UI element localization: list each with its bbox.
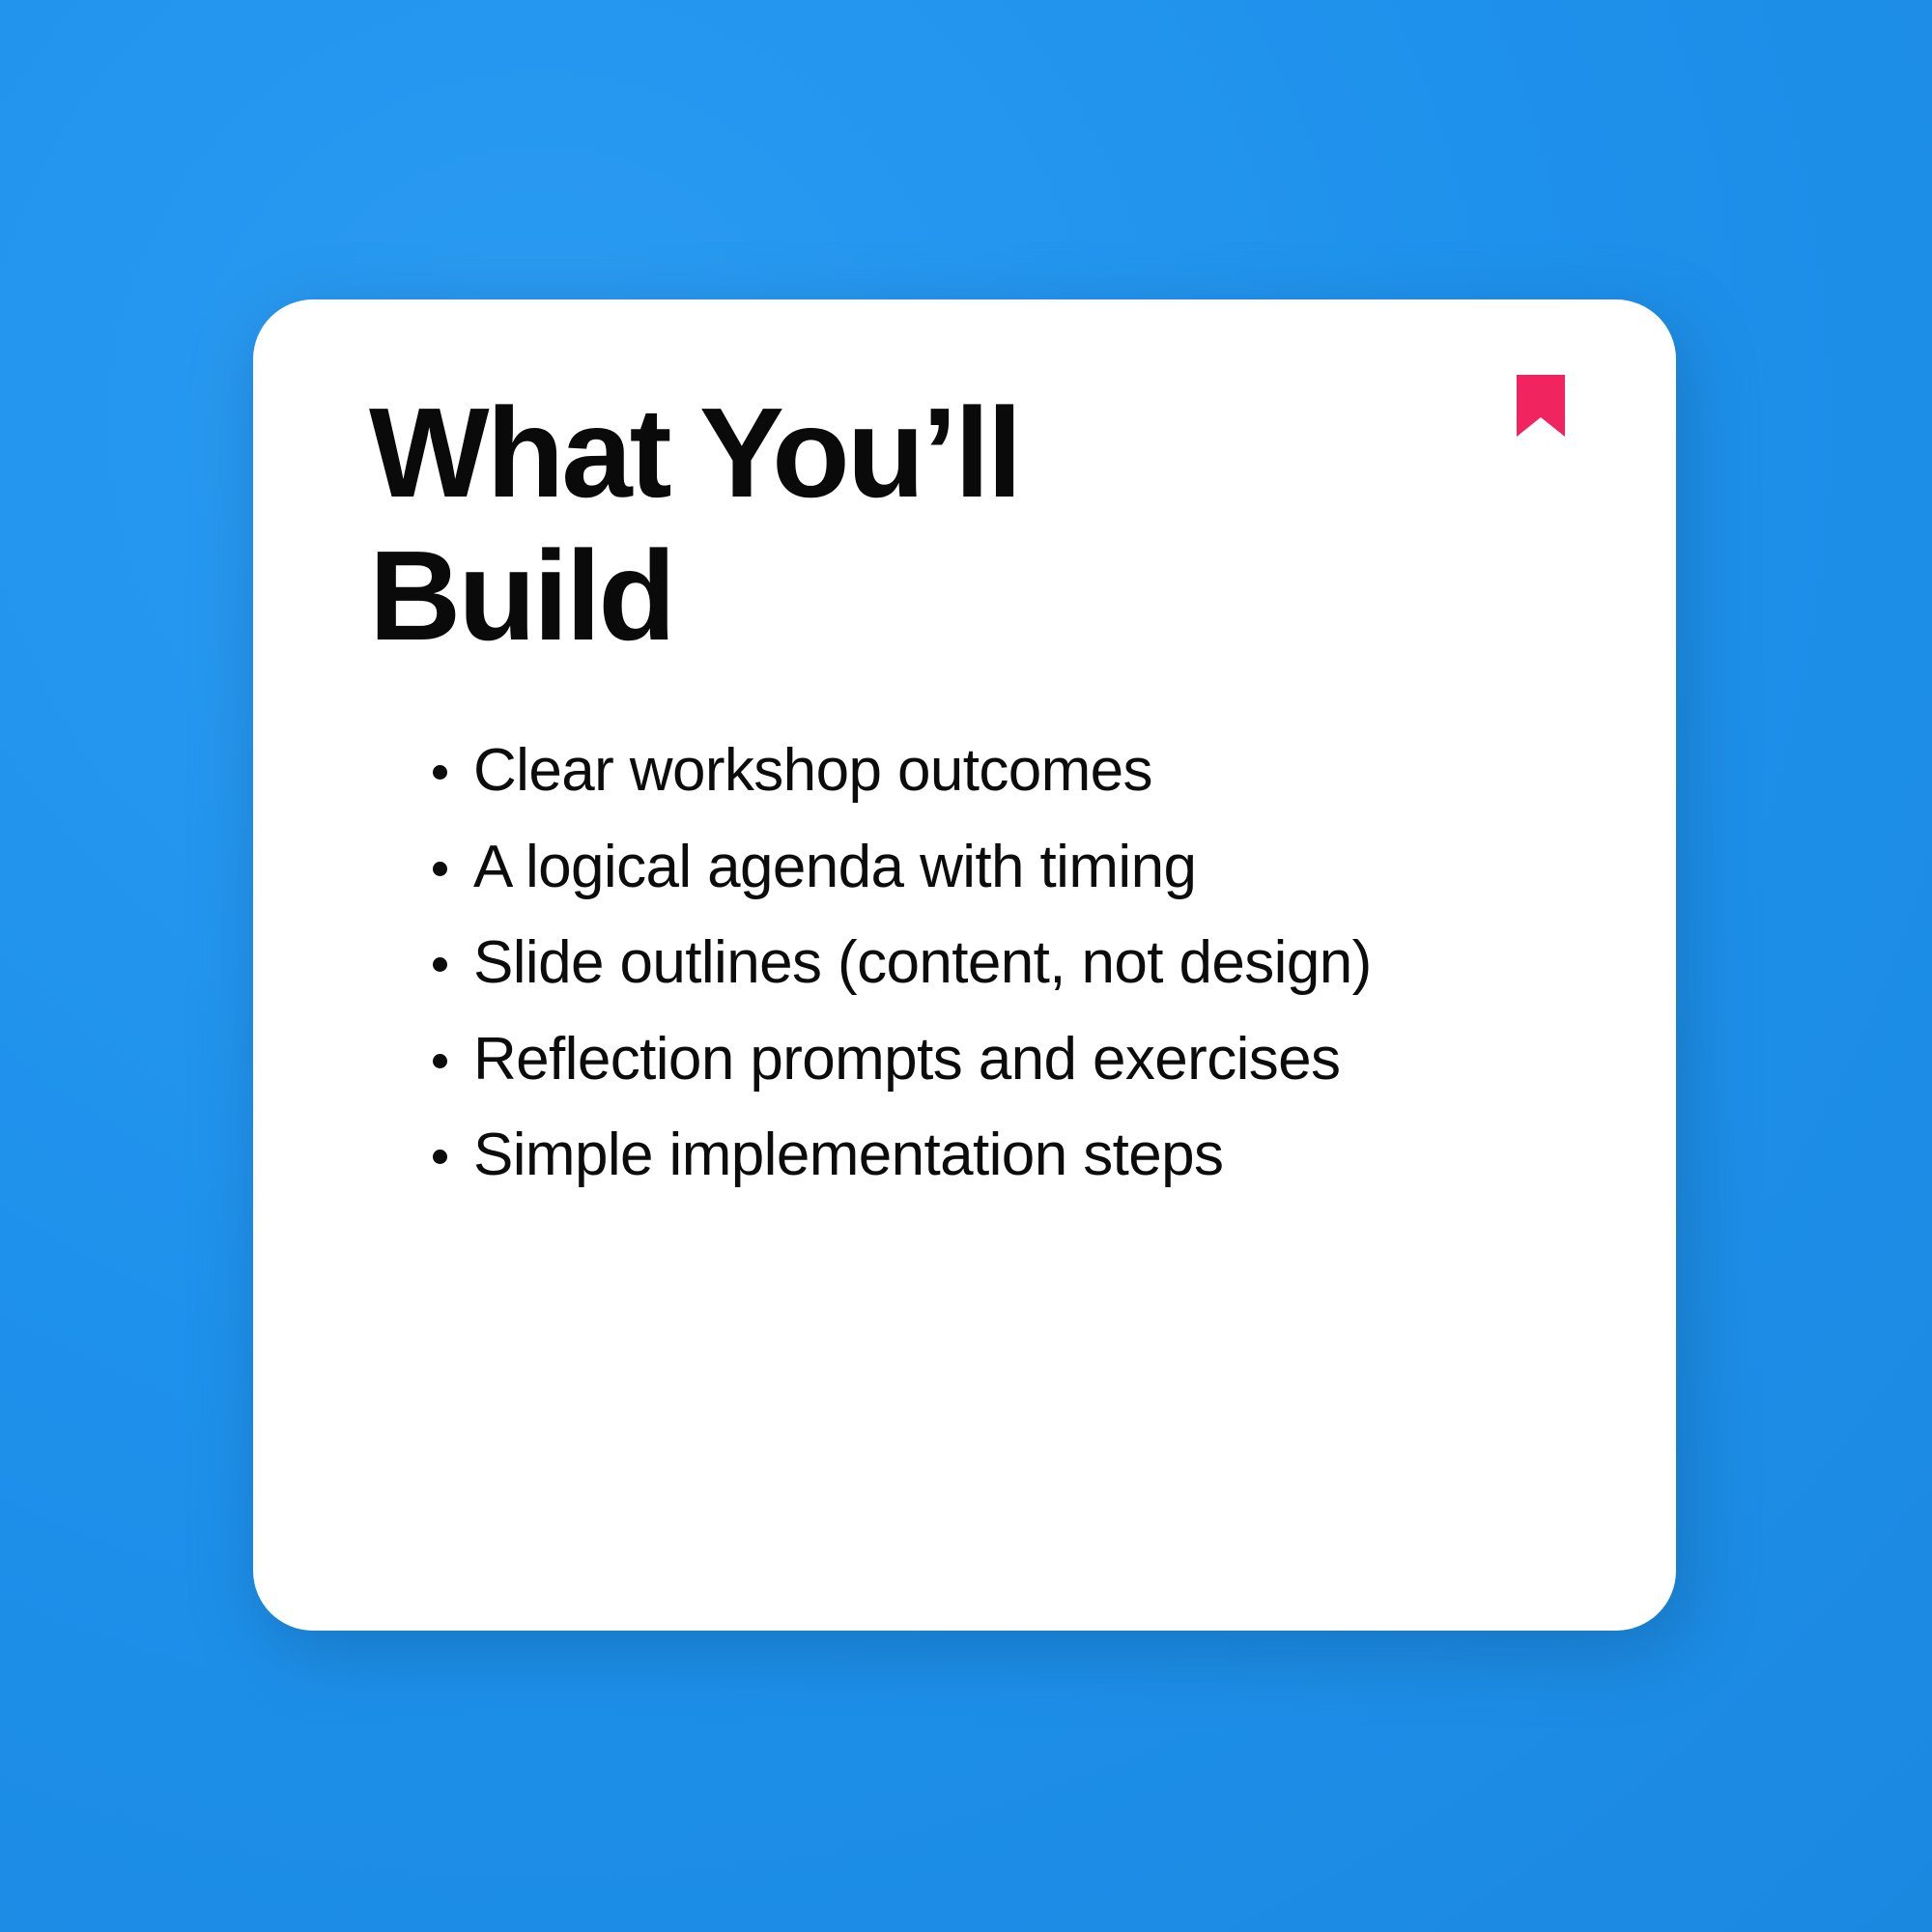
list-item: A logical agenda with timing: [427, 833, 1577, 903]
deliverables-list: Clear workshop outcomes A logical agenda…: [427, 736, 1577, 1191]
list-item: Slide outlines (content, not design): [427, 928, 1577, 999]
list-item: Reflection prompts and exercises: [427, 1025, 1577, 1095]
bullet-marker: [433, 862, 447, 876]
list-item: Clear workshop outcomes: [427, 736, 1577, 807]
slide-canvas: What You’ll Build Clear workshop outcome…: [0, 0, 1932, 1932]
list-item: Simple implementation steps: [427, 1121, 1577, 1191]
bullet-marker: [433, 957, 447, 972]
list-item-label: Simple implementation steps: [473, 1122, 1223, 1188]
list-item-label: Reflection prompts and exercises: [473, 1026, 1340, 1093]
page-title: What You’ll Build: [369, 382, 1335, 668]
list-item-label: Slide outlines (content, not design): [473, 929, 1372, 996]
list-item-label: A logical agenda with timing: [473, 834, 1196, 900]
bullet-marker: [433, 765, 447, 780]
content-card: What You’ll Build Clear workshop outcome…: [253, 299, 1676, 1631]
bullet-marker: [433, 1054, 447, 1068]
bullet-marker: [433, 1150, 447, 1164]
list-item-label: Clear workshop outcomes: [473, 737, 1152, 804]
bookmark-icon[interactable]: [1517, 375, 1565, 437]
